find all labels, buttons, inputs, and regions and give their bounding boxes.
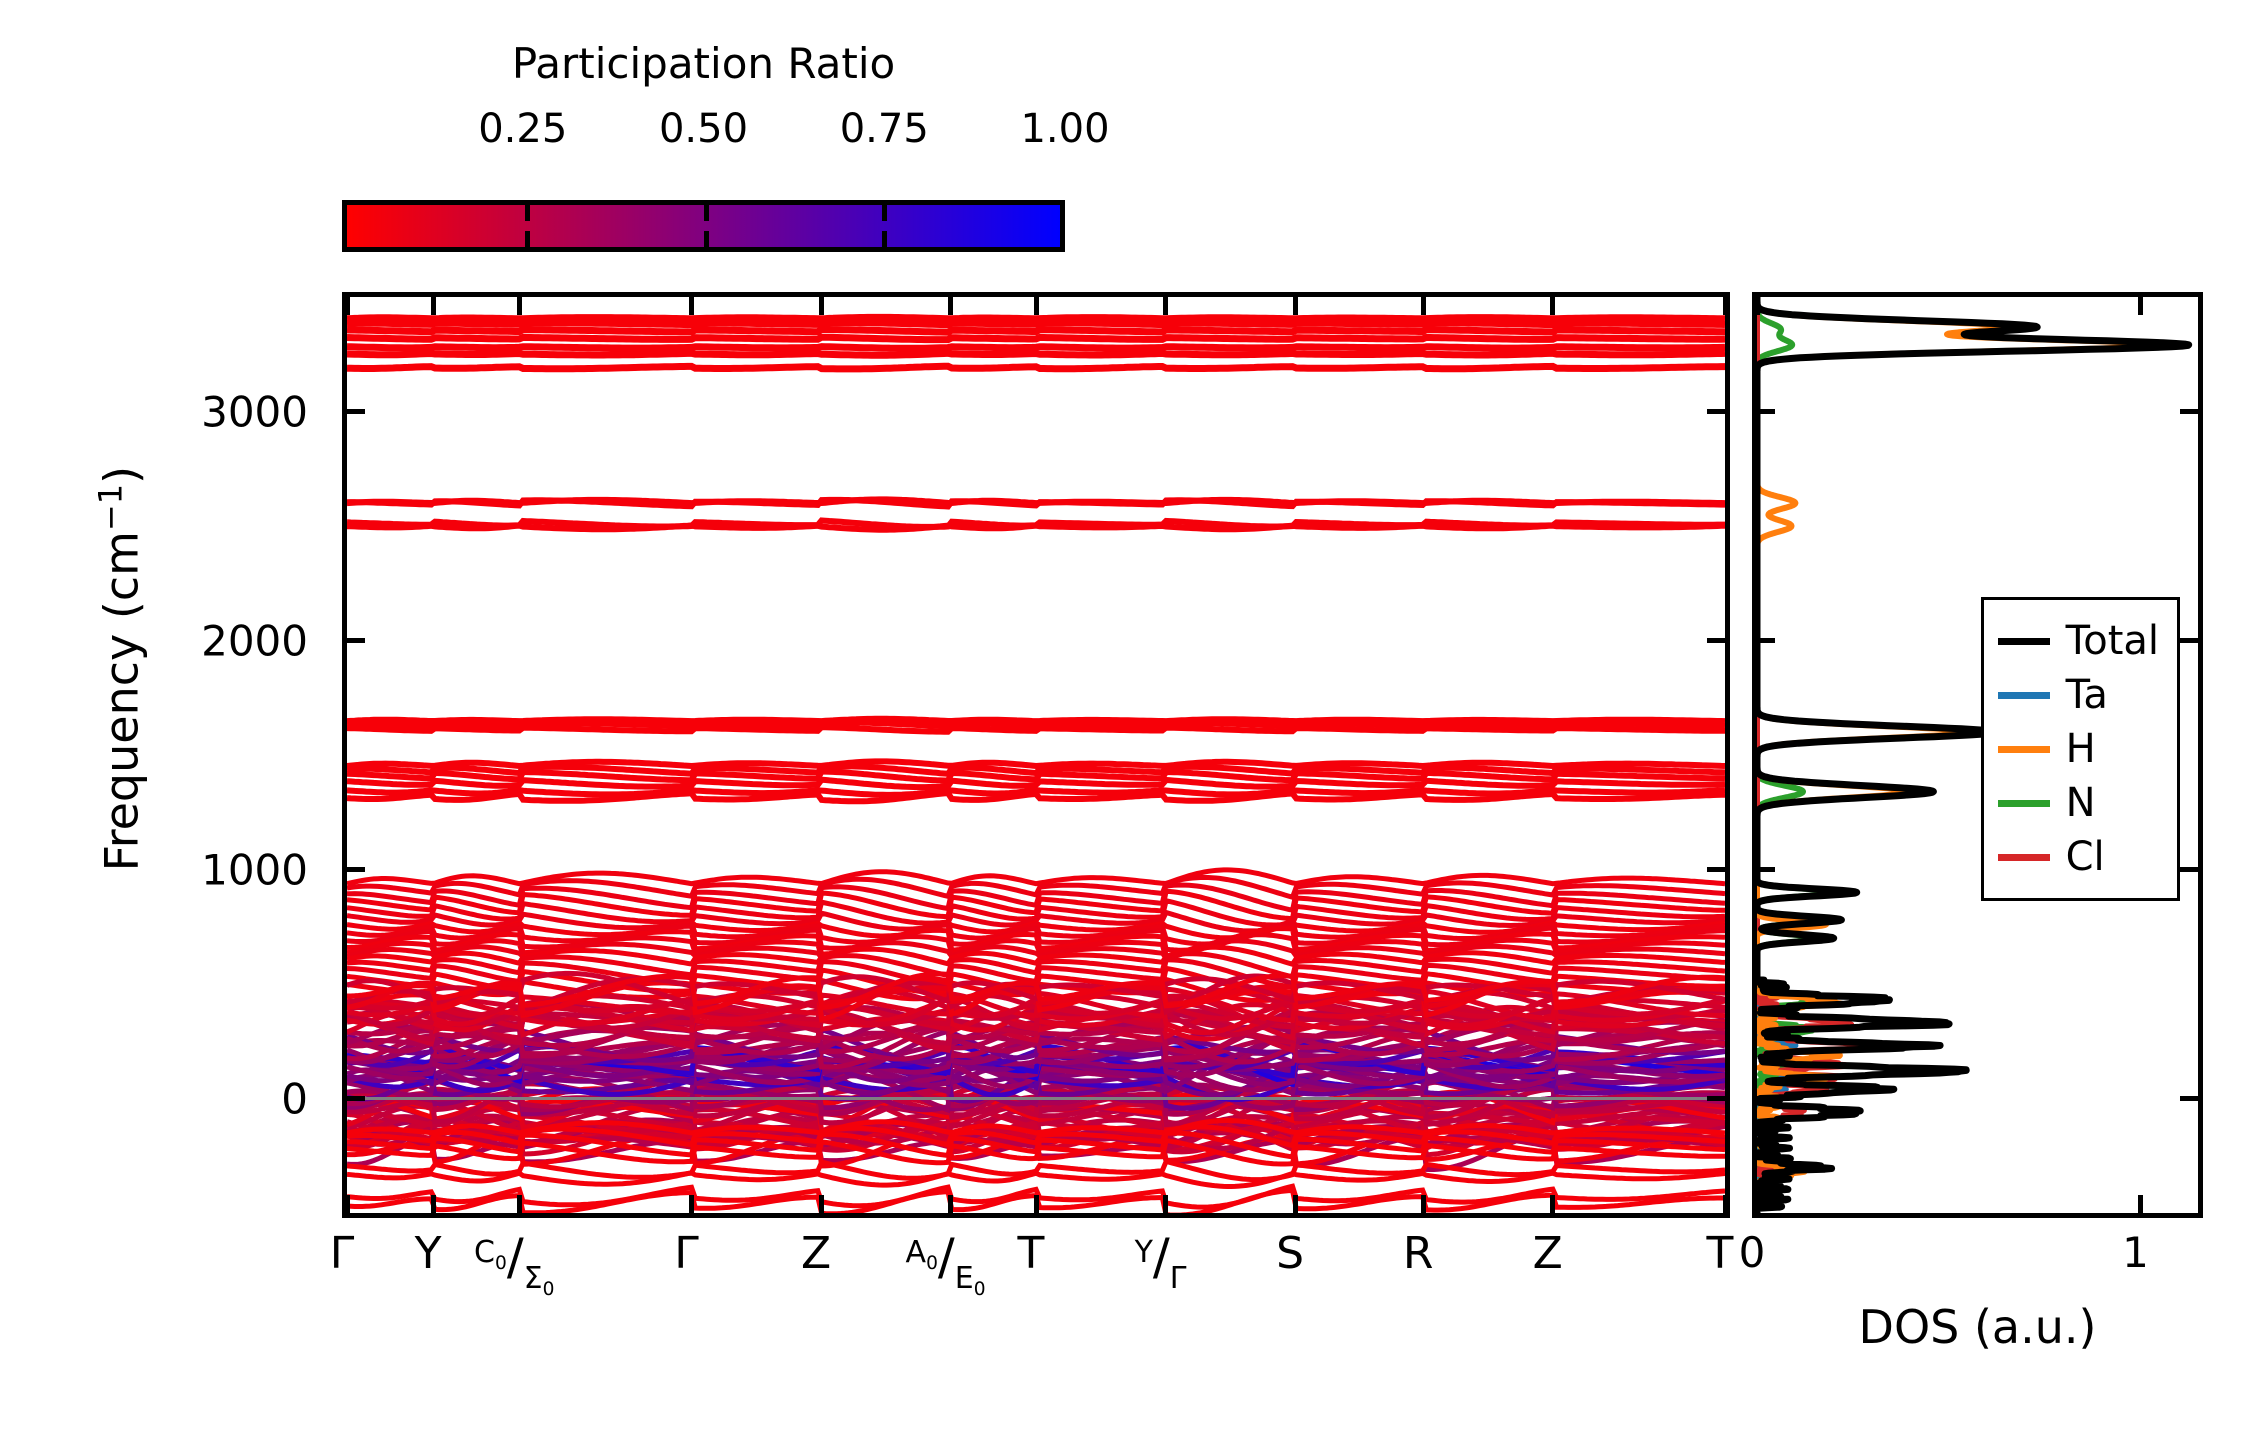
dos-panel[interactable]: Total Ta H N Cl: [1752, 292, 2203, 1218]
dos-tick-label-1: 1: [2122, 1228, 2149, 1277]
dos-tick-labels: 0 1: [1752, 1228, 2203, 1298]
x-tick-7: [1163, 1195, 1168, 1213]
y-tick-label-1000: 1000: [201, 845, 308, 894]
dos-x-tick-1: [2138, 1195, 2143, 1213]
kpath-label-4: Z: [801, 1228, 831, 1279]
x-tick-10: [1550, 1195, 1555, 1213]
y-tick-right-0: [1707, 1096, 1725, 1101]
band-curve: [347, 353, 1725, 355]
y-tick-0: [347, 1096, 365, 1101]
band-curve: [347, 337, 1725, 339]
band-curve: [347, 330, 1725, 333]
legend-item-ta[interactable]: Ta: [1998, 668, 2159, 722]
y-tick-label-2000: 2000: [201, 616, 308, 665]
colorbar-tick-3: 1.00: [1020, 106, 1109, 152]
y-tick-labels: 0 1000 2000 3000: [0, 0, 330, 1455]
legend-swatch-ta: [1998, 692, 2050, 699]
y-tick-right-3000: [1707, 409, 1725, 414]
x-tick-top-6: [1034, 297, 1039, 315]
legend-label-h: H: [2066, 729, 2096, 769]
dos-y-tick-right-2000: [2180, 638, 2198, 643]
kpath-label-0: Γ: [330, 1228, 355, 1279]
legend-swatch-cl: [1998, 854, 2050, 861]
kpath-label-11: T: [1707, 1228, 1734, 1279]
y-tick-right-2000: [1707, 638, 1725, 643]
colorbar-tick-labels: 0.25 0.50 0.75 1.00: [342, 106, 1065, 156]
colorbar-tick-1: 0.50: [659, 106, 748, 152]
kpath-label-8: S: [1276, 1228, 1304, 1279]
x-tick-top-3: [689, 297, 694, 315]
band-curve: [347, 317, 1725, 318]
x-tick-top-4: [819, 297, 824, 315]
kpath-tick-labels: ΓYC0/Σ0ΓZA0/E0TY/ΓSRZT: [342, 1228, 1730, 1348]
legend-swatch-n: [1998, 800, 2050, 807]
x-tick-top-0: [345, 297, 350, 315]
colorbar-title: Participation Ratio: [342, 38, 1065, 90]
dos-y-tick-right-1000: [2180, 867, 2198, 872]
legend-label-ta: Ta: [2066, 675, 2108, 715]
x-tick-0: [345, 1195, 350, 1213]
colorbar-tick-2: 0.75: [840, 106, 929, 152]
participation-ratio-colorbar[interactable]: [342, 200, 1065, 252]
band-curve: [347, 525, 1725, 529]
y-tick-label-3000: 3000: [201, 387, 308, 436]
x-tick-9: [1421, 1195, 1426, 1213]
dos-y-tick-right-3000: [2180, 409, 2198, 414]
colorbar-tickmark-bottom-075: [882, 231, 887, 247]
y-tick-1000: [347, 867, 365, 872]
colorbar-tick-0: 0.25: [478, 106, 567, 152]
dos-x-tick-top-1: [2138, 297, 2143, 315]
x-tick-top-2: [517, 297, 522, 315]
kpath-label-1: Y: [415, 1228, 442, 1279]
dos-tick-label-0: 0: [1739, 1228, 1766, 1277]
x-tick-3: [689, 1195, 694, 1213]
x-tick-top-9: [1421, 297, 1426, 315]
x-tick-2: [517, 1195, 522, 1213]
legend-label-total: Total: [2066, 621, 2159, 661]
x-tick-11: [1723, 1195, 1728, 1213]
band-curves: [347, 297, 1725, 1213]
kpath-label-5: A0/E0: [906, 1228, 986, 1286]
x-tick-top-8: [1293, 297, 1298, 315]
dos-x-tick-top-0: [1755, 297, 1760, 315]
x-tick-4: [819, 1195, 824, 1213]
dos-y-tick-0: [1757, 1096, 1775, 1101]
dos-y-tick-1000: [1757, 867, 1775, 872]
kpath-label-7: Y/Γ: [1135, 1228, 1187, 1286]
dos-y-tick-right-0: [2180, 1096, 2198, 1101]
kpath-label-3: Γ: [674, 1228, 699, 1279]
x-tick-top-7: [1163, 297, 1168, 315]
x-tick-1: [431, 1195, 436, 1213]
band-curve: [347, 727, 1725, 732]
colorbar-tickmark-top-025: [525, 205, 530, 221]
x-tick-5: [948, 1195, 953, 1213]
legend-item-n[interactable]: N: [1998, 776, 2159, 830]
y-tick-right-1000: [1707, 867, 1725, 872]
legend-item-h[interactable]: H: [1998, 722, 2159, 776]
band-structure-panel[interactable]: [342, 292, 1730, 1218]
x-tick-top-1: [431, 297, 436, 315]
dos-y-tick-3000: [1757, 409, 1775, 414]
legend-label-cl: Cl: [2066, 837, 2105, 877]
band-curve: [347, 1162, 1725, 1180]
phonon-figure: Participation Ratio 0.25 0.50 0.75 1.00 …: [0, 0, 2259, 1455]
colorbar-tickmark-bottom-025: [525, 231, 530, 247]
x-tick-top-11: [1723, 297, 1728, 315]
legend-item-total[interactable]: Total: [1998, 614, 2159, 668]
colorbar-tickmark-bottom-050: [704, 231, 709, 247]
x-tick-top-10: [1550, 297, 1555, 315]
dos-y-tick-2000: [1757, 638, 1775, 643]
legend-item-cl[interactable]: Cl: [1998, 830, 2159, 884]
legend-swatch-total: [1998, 638, 2050, 645]
kpath-label-10: Z: [1533, 1228, 1563, 1279]
kpath-label-9: R: [1403, 1228, 1434, 1279]
kpath-label-6: T: [1018, 1228, 1045, 1279]
colorbar-tickmark-top-075: [882, 205, 887, 221]
x-tick-8: [1293, 1195, 1298, 1213]
band-curve: [347, 347, 1725, 349]
y-tick-3000: [347, 409, 365, 414]
legend-label-n: N: [2066, 783, 2096, 823]
x-tick-top-5: [948, 297, 953, 315]
y-tick-2000: [347, 638, 365, 643]
band-structure-plot-area: [347, 297, 1725, 1213]
dos-axis-label: DOS (a.u.): [1752, 1300, 2203, 1354]
band-curve: [347, 366, 1725, 369]
dos-x-tick-0: [1755, 1195, 1760, 1213]
colorbar-tickmark-top-050: [704, 205, 709, 221]
kpath-label-2: C0/Σ0: [474, 1228, 554, 1286]
legend-swatch-h: [1998, 746, 2050, 753]
band-curve: [347, 323, 1725, 325]
x-tick-6: [1034, 1195, 1039, 1213]
y-tick-label-0: 0: [281, 1074, 308, 1123]
dos-legend[interactable]: Total Ta H N Cl: [1981, 597, 2180, 901]
